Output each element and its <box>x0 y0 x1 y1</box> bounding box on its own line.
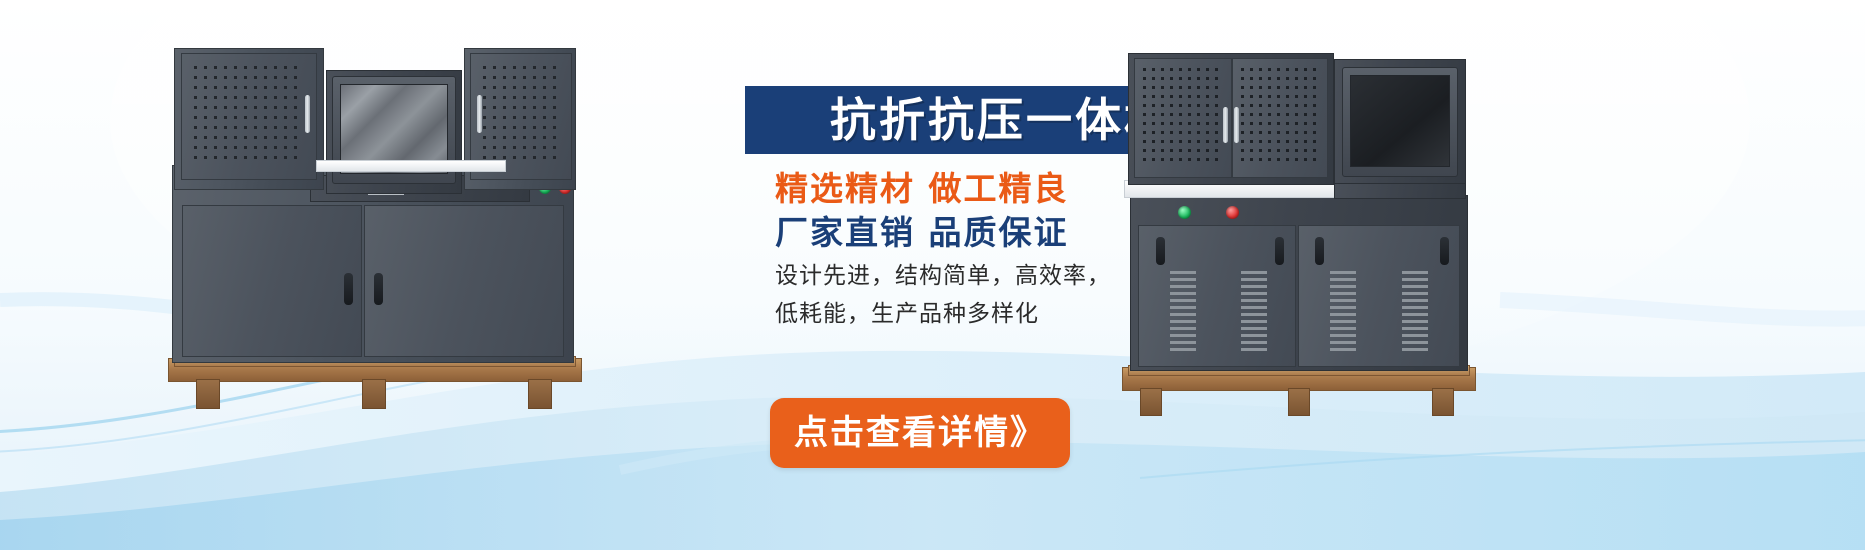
right-machine-monitor-screen <box>1350 75 1450 167</box>
right-machine-pallet-leg <box>1288 388 1310 416</box>
right-machine-pallet-leg <box>1140 388 1162 416</box>
right-machine-base-door-handle <box>1156 237 1165 265</box>
right-machine-base-door-handle <box>1440 237 1449 265</box>
left-machine-base-door-left <box>182 205 362 357</box>
left-machine-perforation-pattern <box>481 64 559 164</box>
right-machine-perforation-pattern <box>1239 66 1319 168</box>
left-machine-pallet-leg <box>362 379 386 409</box>
right-machine-vent-louvers <box>1330 271 1356 351</box>
left-machine-white-strip <box>316 160 506 172</box>
left-machine-pallet-leg <box>196 379 220 409</box>
right-machine-vent-louvers <box>1402 271 1428 351</box>
right-machine-perforation-pattern <box>1141 66 1221 168</box>
right-machine-vent-louvers <box>1170 271 1196 351</box>
right-machine-top-door-handle <box>1223 107 1228 143</box>
right-machine-product-image <box>1110 45 1500 440</box>
right-machine-base-door-handle <box>1275 237 1284 265</box>
left-machine-perforation-pattern <box>192 64 304 164</box>
left-machine-base-door-handle <box>344 273 353 305</box>
left-machine-top-left-door-handle <box>305 95 310 133</box>
view-details-button-label: 点击查看详情》 <box>794 416 1046 450</box>
right-machine-base-door-handle <box>1315 237 1324 265</box>
right-machine-pallet-leg <box>1432 388 1454 416</box>
promo-banner: 抗折抗压一体机 精选精材 做工精良 厂家直销 品质保证 设计先进，结构简单，高效… <box>0 0 1865 550</box>
left-machine-base-door-right <box>364 205 564 357</box>
right-machine-indicator-green <box>1178 206 1191 219</box>
left-machine-top-right-door-handle <box>477 95 482 133</box>
right-machine-indicator-red <box>1226 206 1239 219</box>
left-machine-pallet-leg <box>528 379 552 409</box>
view-details-button[interactable]: 点击查看详情》 <box>770 398 1070 468</box>
left-machine-product-image <box>150 40 600 440</box>
right-machine-top-door-handle <box>1234 107 1239 143</box>
right-machine-vent-louvers <box>1241 271 1267 351</box>
left-machine-base-door-handle <box>374 273 383 305</box>
right-machine-monitor-base <box>1334 183 1466 199</box>
